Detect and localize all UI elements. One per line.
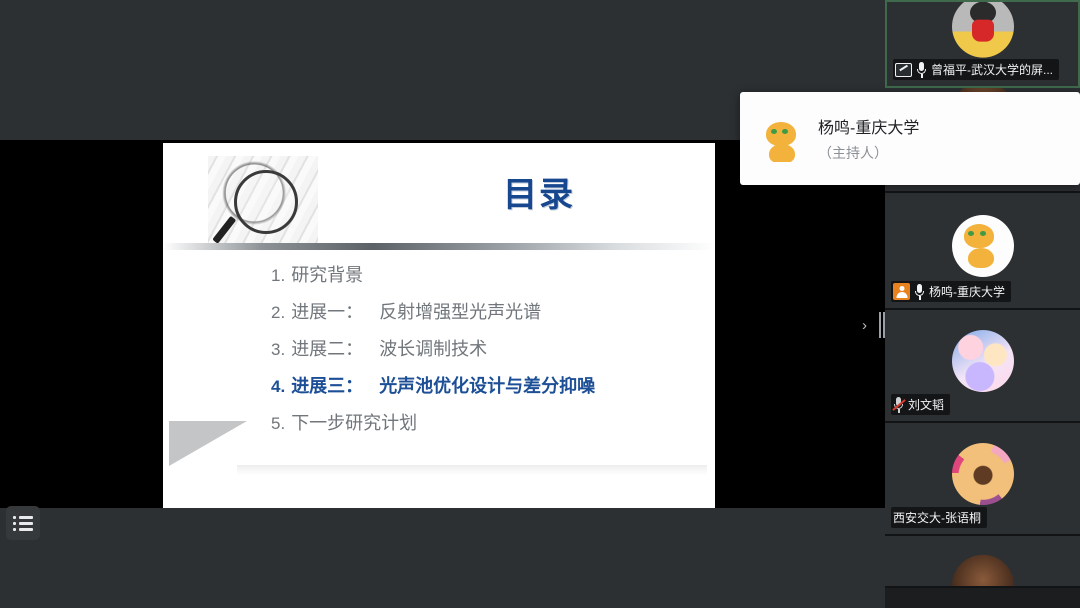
meeting-app-window: 目录 1. 研究背景 2. 进展一： 反射增强型光声光谱 3. 进展二： 波长调…	[0, 0, 1080, 608]
tiger-cartoon-avatar	[758, 116, 804, 162]
host-badge-icon	[893, 283, 910, 300]
tooltip-participant-role: （主持人）	[818, 143, 919, 163]
toc-number: 1.	[271, 266, 285, 286]
participant-tile-sharing[interactable]: 曾福平-武汉大学的屏...	[885, 0, 1080, 88]
toc-number: 5.	[271, 414, 285, 434]
slide-header: 目录	[163, 143, 715, 248]
slide-toc-list: 1. 研究背景 2. 进展一： 反射增强型光声光谱 3. 进展二： 波长调制技术…	[163, 261, 715, 446]
participant-name-row: 刘文韬	[891, 394, 950, 415]
participant-hover-tooltip: 杨鸣-重庆大学 （主持人）	[740, 92, 1080, 185]
toc-sublabel: 波长调制技术	[379, 335, 487, 361]
participant-name-row: 曾福平-武汉大学的屏...	[893, 59, 1059, 80]
toc-item: 2. 进展一： 反射增强型光声光谱	[163, 298, 715, 335]
toc-item: 1. 研究背景	[163, 261, 715, 298]
toc-number: 3.	[271, 340, 285, 360]
bulleted-list-icon	[13, 516, 33, 531]
dark-portrait-avatar	[952, 555, 1014, 588]
toc-label: 进展一：	[291, 298, 363, 324]
participant-tile-partial[interactable]	[885, 536, 1080, 588]
toc-item: 3. 进展二： 波长调制技术	[163, 335, 715, 372]
participant-tile-host[interactable]: 杨鸣-重庆大学	[885, 193, 1080, 310]
donut-avatar	[952, 443, 1014, 505]
magnifier-photo-icon	[208, 156, 318, 244]
toc-sublabel: 光声池优化设计与差分抑噪	[379, 372, 595, 398]
toc-sublabel: 反射增强型光声光谱	[379, 298, 541, 324]
toc-label: 进展三：	[291, 372, 363, 398]
participant-name-row: 西安交大-张语桐	[891, 507, 987, 528]
mickey-mouse-avatar	[952, 0, 1014, 58]
mic-on-icon	[916, 62, 927, 78]
toc-number: 2.	[271, 303, 285, 323]
participant-name: 刘文韬	[908, 396, 944, 413]
tooltip-text-block: 杨鸣-重庆大学 （主持人）	[818, 114, 919, 163]
screen-share-icon	[895, 63, 912, 77]
mic-muted-icon	[893, 397, 904, 413]
participant-tile[interactable]: 刘文韬	[885, 310, 1080, 423]
participants-list-button[interactable]	[6, 506, 40, 540]
toc-label: 下一步研究计划	[291, 409, 417, 435]
participant-name: 杨鸣-重庆大学	[929, 283, 1005, 300]
toc-item-active: 4. 进展三： 光声池优化设计与差分抑噪	[163, 372, 715, 409]
participant-tile[interactable]: 西安交大-张语桐	[885, 423, 1080, 536]
mic-on-icon	[914, 284, 925, 300]
slide-corner-fold-decoration	[169, 421, 247, 466]
participant-name-row: 杨鸣-重庆大学	[891, 281, 1011, 302]
toc-label: 进展二：	[291, 335, 363, 361]
slide-bottom-shadow	[237, 465, 707, 475]
tiger-cartoon-avatar	[952, 215, 1014, 277]
participant-name: 曾福平-武汉大学的屏...	[931, 61, 1053, 78]
panel-resize-handle[interactable]	[878, 310, 885, 340]
anime-group-avatar	[952, 330, 1014, 392]
slide-divider	[163, 243, 715, 250]
participant-name: 西安交大-张语桐	[893, 509, 981, 526]
slide-title: 目录	[503, 167, 575, 216]
chevron-right-icon[interactable]: ›	[862, 318, 867, 333]
shared-slide[interactable]: 目录 1. 研究背景 2. 进展一： 反射增强型光声光谱 3. 进展二： 波长调…	[163, 143, 715, 508]
tooltip-participant-name: 杨鸣-重庆大学	[818, 114, 919, 138]
toc-label: 研究背景	[291, 261, 363, 287]
toc-number: 4.	[271, 377, 285, 397]
stage-bottom-band	[0, 508, 885, 608]
